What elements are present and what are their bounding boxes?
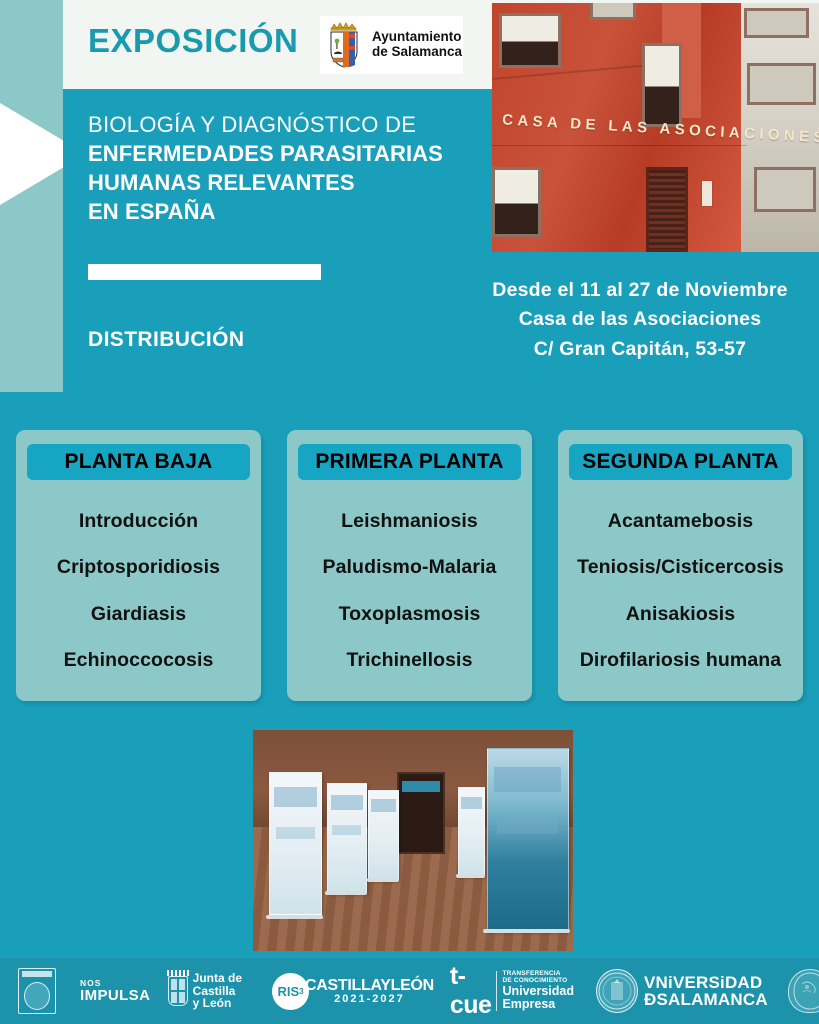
floor-column-primera-planta: PRIMERA PLANTA Leishmaniosis Paludismo-M… [287, 430, 532, 701]
section-label: DISTRIBUCIÓN [88, 328, 244, 352]
building-window [754, 167, 816, 212]
hall-rollup-banner [458, 787, 486, 875]
floor-topic-list: Introducción Criptosporidiosis Giardiasi… [22, 498, 255, 684]
poster-title: BIOLOGÍA Y DIAGNÓSTICO DE ENFERMEDADES P… [88, 110, 478, 226]
logo-tcue: t-cue TRANSFERENCIA DE CONOCIMIENTO Univ… [450, 962, 574, 1020]
hall-rollup-banner [269, 772, 322, 915]
hall-rollup-base [266, 915, 324, 919]
ris3-superscript: 3 [299, 987, 303, 996]
title-line-2: ENFERMEDADES PARASITARIAS [88, 139, 478, 168]
junta-line-2: Castilla y León [193, 985, 244, 1011]
venue-place: Casa de las Asociaciones [468, 305, 812, 334]
venue-address: C/ Gran Capitán, 53-57 [468, 335, 812, 364]
junta-line-1: Junta de [193, 972, 244, 985]
kicker-label: EXPOSICIÓN [88, 24, 298, 57]
title-line-1: BIOLOGÍA Y DIAGNÓSTICO DE [88, 110, 478, 139]
title-divider [88, 264, 321, 280]
ayuntamiento-line-1: Ayuntamiento [372, 30, 462, 45]
logo-ris3-castilla-y-leon: RIS3 CASTILLAYLEÓN 2021-2027 [272, 973, 434, 1010]
floor-heading: SEGUNDA PLANTA [569, 444, 792, 480]
usal-seal-icon [596, 969, 638, 1013]
fundacion-seal-icon [18, 968, 56, 1014]
list-item: Trichinellosis [293, 638, 526, 685]
hall-rollup-base [367, 878, 399, 882]
floor-topic-list: Leishmaniosis Paludismo-Malaria Toxoplas… [293, 498, 526, 684]
floor-distribution: PLANTA BAJA Introducción Criptosporidios… [16, 430, 803, 701]
list-item: Giardiasis [22, 591, 255, 638]
footer-logo-strip: NOS IMPULSA Junta de Castilla y León RIS… [0, 958, 819, 1024]
logo-universidad-de-salamanca: VNiVERSiDAD ÐSALAMANCA [596, 969, 768, 1013]
ris3-region-text: CASTILLAYLEÓN 2021-2027 [305, 977, 434, 1005]
building-window [642, 43, 681, 128]
list-item: Leishmaniosis [293, 498, 526, 545]
hall-rollup-base [483, 929, 569, 933]
building-photo-ledge [492, 145, 747, 147]
junta-logo-text: Junta de Castilla y León [193, 972, 244, 1011]
usal-logo-text: VNiVERSiDAD ÐSALAMANCA [644, 974, 768, 1009]
floor-heading: PLANTA BAJA [27, 444, 250, 480]
list-item: Acantamebosis [564, 498, 797, 545]
building-notice-board [701, 180, 712, 207]
hall-rollup-banner-featured [487, 748, 569, 931]
hall-rollup-base [456, 874, 485, 878]
nos-impulsa-line-2: IMPULSA [80, 988, 150, 1003]
list-item: Toxoplasmosis [293, 591, 526, 638]
building-window [747, 63, 816, 105]
list-item: Anisakiosis [564, 591, 797, 638]
tcue-mark: t-cue [450, 962, 492, 1020]
venue-info: Desde el 11 al 27 de Noviembre Casa de l… [468, 276, 812, 364]
floor-column-planta-baja: PLANTA BAJA Introducción Criptosporidios… [16, 430, 261, 701]
usal-line-1: VNiVERSiDAD [644, 974, 768, 991]
ayuntamiento-logo-text: Ayuntamiento de Salamanca [372, 30, 462, 60]
list-item: Introducción [22, 498, 255, 545]
ris3-mark-icon: RIS3 [272, 973, 309, 1010]
list-item: Dirofilariosis humana [564, 638, 797, 685]
title-line-3: HUMANAS RELEVANTES [88, 168, 478, 197]
poster-root: EXPOSICIÓN [0, 0, 819, 1024]
usal-line-2: ÐSALAMANCA [644, 991, 768, 1008]
tcue-subtitle: TRANSFERENCIA DE CONOCIMIENTO Universida… [496, 971, 574, 1011]
building-photo: CASA DE LAS ASOCIACIONES [492, 3, 819, 252]
logo-unidad-cultura-cientifica: Unidad de Cultura Científica y de la Inn… [788, 958, 819, 1023]
hall-rollup-banner [368, 790, 399, 880]
list-item: Teniosis/Cisticercosis [564, 545, 797, 592]
junta-shield-icon [168, 976, 187, 1006]
tcue-sub-line-3: Universidad Empresa [502, 985, 574, 1012]
floor-topic-list: Acantamebosis Teniosis/Cisticercosis Ani… [564, 498, 797, 684]
title-line-4: EN ESPAÑA [88, 197, 478, 226]
hall-rollup-banner [327, 783, 367, 893]
floor-column-segunda-planta: SEGUNDA PLANTA Acantamebosis Teniosis/Ci… [558, 430, 803, 701]
building-window [499, 13, 561, 68]
list-item: Criptosporidiosis [22, 545, 255, 592]
ayuntamiento-logo: Ayuntamiento de Salamanca [320, 16, 463, 74]
ayuntamiento-line-2: de Salamanca [372, 45, 462, 60]
logo-fundacion [18, 968, 56, 1014]
ucc-head-icon [788, 969, 819, 1013]
exhibition-hall-photo [253, 730, 573, 951]
building-window [590, 3, 636, 20]
building-window [492, 167, 541, 237]
hall-exit-sign-icon [402, 781, 440, 792]
building-window [744, 8, 809, 38]
building-entrance-door [646, 167, 689, 252]
list-item: Paludismo-Malaria [293, 545, 526, 592]
venue-dates: Desde el 11 al 27 de Noviembre [468, 276, 812, 305]
logo-junta-castilla-y-leon: Junta de Castilla y León [168, 972, 244, 1011]
logo-nos-impulsa: NOS IMPULSA [80, 979, 150, 1003]
ris3-mark-text: RIS [277, 984, 299, 999]
hall-rollup-base [325, 891, 367, 895]
salamanca-coat-of-arms-icon [324, 20, 366, 70]
list-item: Echinoccocosis [22, 638, 255, 685]
floor-heading: PRIMERA PLANTA [298, 444, 521, 480]
